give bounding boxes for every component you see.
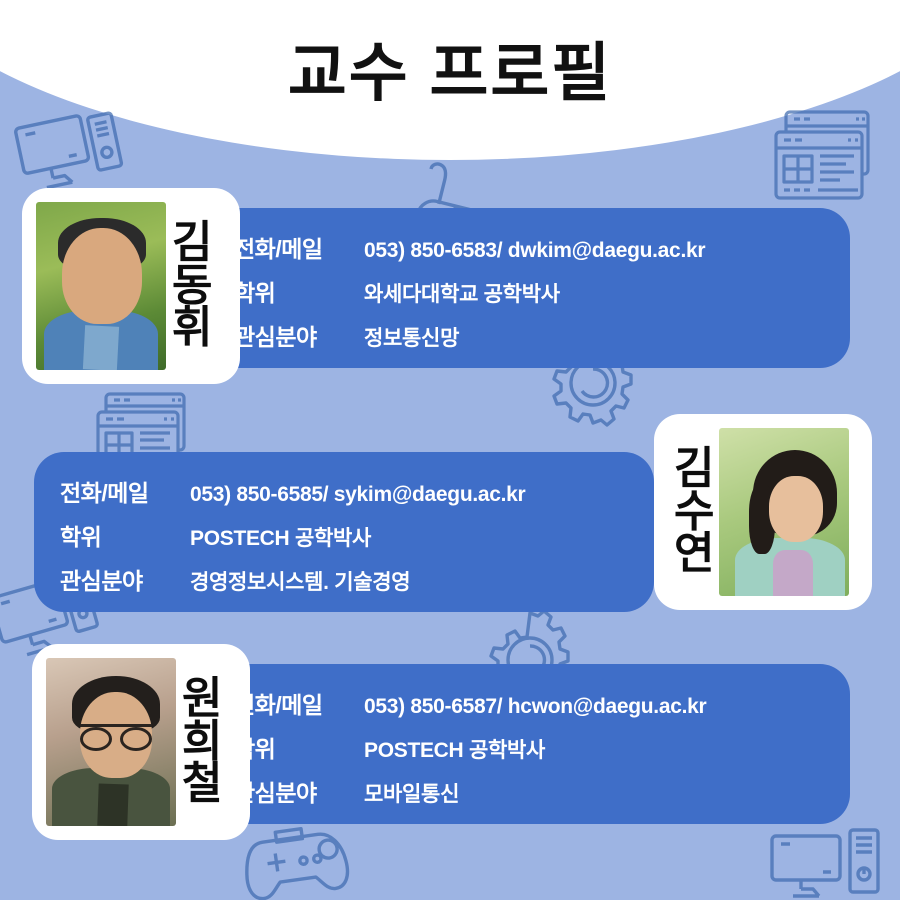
desktop-computer-icon (770, 828, 882, 900)
name-char: 김 (172, 222, 211, 265)
name-char: 연 (674, 533, 713, 576)
label-contact: 전화/메일 (60, 474, 190, 508)
name-char: 휘 (172, 307, 211, 350)
row-contact: 전화/메일 053) 850-6583/ dwkim@daegu.ac.kr (234, 230, 824, 264)
row-interest: 관심분야 모바일통신 (234, 774, 824, 808)
row-contact: 전화/메일 053) 850-6585/ sykim@daegu.ac.kr (60, 474, 628, 508)
professor-name-1: 김 동 휘 (166, 222, 217, 350)
info-rows: 전화/메일 053) 850-6583/ dwkim@daegu.ac.kr 학… (208, 208, 850, 374)
label-contact: 전화/메일 (234, 230, 364, 264)
value-interest: 경영정보시스템. 기술경영 (190, 566, 410, 596)
professor-name-3: 원 희 철 (176, 678, 227, 806)
label-interest: 관심분야 (234, 318, 364, 352)
page-title: 교수 프로필 (0, 22, 900, 114)
row-interest: 관심분야 정보통신망 (234, 318, 824, 352)
row-contact: 전화/메일 053) 850-6587/ hcwon@daegu.ac.kr (234, 686, 824, 720)
professor-name-2: 김 수 연 (668, 448, 719, 576)
value-degree: 와세다대학교 공학박사 (364, 278, 560, 308)
value-interest: 모바일통신 (364, 778, 459, 808)
value-contact: 053) 850-6587/ hcwon@daegu.ac.kr (364, 695, 706, 719)
info-rows: 전화/메일 053) 850-6587/ hcwon@daegu.ac.kr 학… (208, 664, 850, 830)
row-interest: 관심분야 경영정보시스템. 기술경영 (60, 562, 628, 596)
label-interest: 관심분야 (60, 562, 190, 596)
gamepad-icon (227, 818, 361, 900)
browser-window-icon (772, 108, 878, 208)
name-char: 동 (172, 265, 211, 308)
professor-photo-3 (46, 658, 176, 826)
value-interest: 정보통신망 (364, 322, 459, 352)
row-degree: 학위 와세다대학교 공학박사 (234, 274, 824, 308)
value-degree: POSTECH 공학박사 (364, 734, 545, 764)
desktop-computer-icon (11, 102, 129, 202)
photo-card-professor-3: 원 희 철 (32, 644, 250, 840)
photo-card-professor-2: 김 수 연 (654, 414, 872, 610)
name-char: 김 (674, 448, 713, 491)
info-card-professor-3: 전화/메일 053) 850-6587/ hcwon@daegu.ac.kr 학… (208, 664, 850, 824)
value-degree: POSTECH 공학박사 (190, 522, 371, 552)
row-degree: 학위 POSTECH 공학박사 (60, 518, 628, 552)
professor-photo-1 (36, 202, 166, 370)
row-degree: 학위 POSTECH 공학박사 (234, 730, 824, 764)
label-degree: 학위 (234, 274, 364, 308)
name-char: 철 (182, 763, 221, 806)
info-card-professor-1: 전화/메일 053) 850-6583/ dwkim@daegu.ac.kr 학… (208, 208, 850, 368)
value-contact: 053) 850-6583/ dwkim@daegu.ac.kr (364, 239, 705, 263)
label-contact: 전화/메일 (234, 686, 364, 720)
name-char: 원 (182, 678, 221, 721)
label-interest: 관심분야 (234, 774, 364, 808)
name-char: 희 (182, 721, 221, 764)
label-degree: 학위 (234, 730, 364, 764)
info-card-professor-2: 전화/메일 053) 850-6585/ sykim@daegu.ac.kr 학… (34, 452, 654, 612)
professor-photo-2 (719, 428, 849, 596)
professor-profile-poster: 교수 프로필 전화/메일 053) 850-6583/ dwkim@daegu.… (0, 0, 900, 900)
photo-card-professor-1: 김 동 휘 (22, 188, 240, 384)
name-char: 수 (674, 491, 713, 534)
value-contact: 053) 850-6585/ sykim@daegu.ac.kr (190, 483, 525, 507)
info-rows: 전화/메일 053) 850-6585/ sykim@daegu.ac.kr 학… (34, 452, 654, 618)
label-degree: 학위 (60, 518, 190, 552)
